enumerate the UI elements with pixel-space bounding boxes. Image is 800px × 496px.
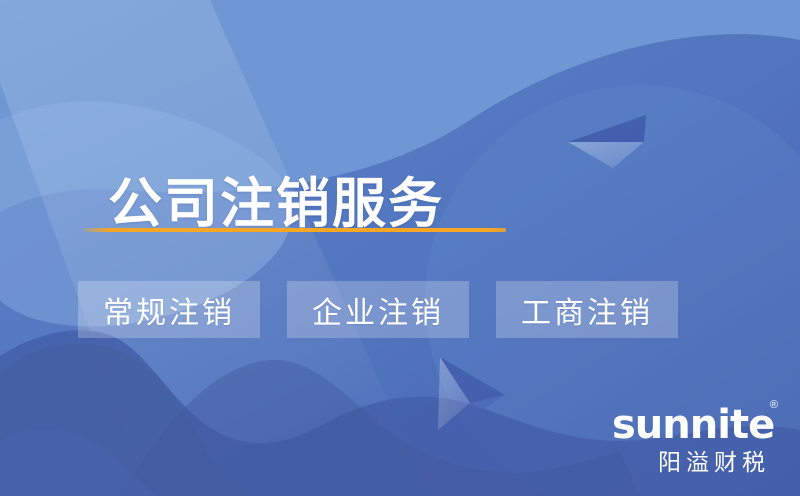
service-tag-commercial[interactable]: 工商注销 [496,281,678,338]
banner-content: 公司注销服务 常规注销 企业注销 工商注销 sunnite ® 阳溢财税 [0,0,800,496]
promo-banner: 公司注销服务 常规注销 企业注销 工商注销 sunnite ® 阳溢财税 [0,0,800,496]
page-title: 公司注销服务 [108,177,444,231]
logo-subtitle: 阳溢财税 [612,448,772,476]
service-tag-enterprise[interactable]: 企业注销 [287,281,469,338]
service-tag-regular[interactable]: 常规注销 [78,281,260,338]
title-accent-rule [84,228,506,232]
registered-trademark-icon: ® [770,400,778,411]
service-tag-row: 常规注销 企业注销 工商注销 [78,281,678,338]
logo-mark: sunnite ® [612,404,772,446]
brand-logo[interactable]: sunnite ® 阳溢财税 [612,404,772,480]
logo-wordmark: sunnite [612,404,772,446]
